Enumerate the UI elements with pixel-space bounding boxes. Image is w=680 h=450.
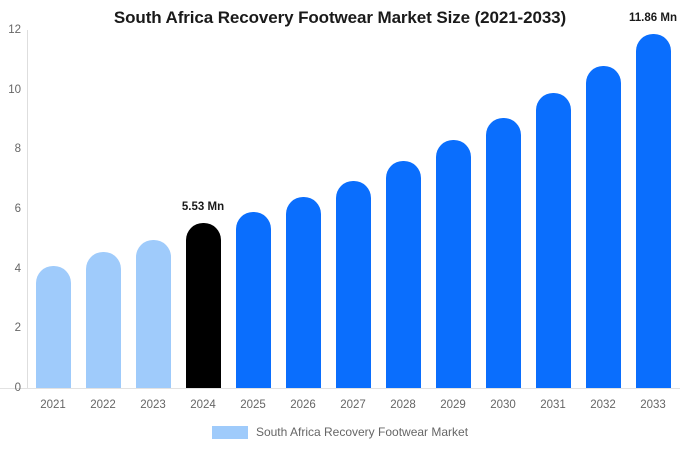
legend-swatch-icon xyxy=(212,426,248,439)
x-axis-tick-2029: 2029 xyxy=(440,399,466,411)
x-axis-tick-2032: 2032 xyxy=(590,399,616,411)
y-axis-tick-labels: 024681012 xyxy=(0,0,21,450)
x-axis-tick-2030: 2030 xyxy=(490,399,516,411)
y-axis-tick-8: 8 xyxy=(0,143,21,155)
chart-legend: South Africa Recovery Footwear Market xyxy=(0,425,680,439)
x-axis-tick-2022: 2022 xyxy=(90,399,116,411)
bar-2033[interactable] xyxy=(636,34,671,388)
bar-2026[interactable] xyxy=(286,197,321,388)
bar-2022[interactable] xyxy=(86,252,121,388)
bar-2028[interactable] xyxy=(386,161,421,388)
x-axis-tick-2033: 2033 xyxy=(640,399,666,411)
y-axis-tick-12: 12 xyxy=(0,24,21,36)
x-axis-tick-2021: 2021 xyxy=(40,399,66,411)
x-axis-tick-2024: 2024 xyxy=(190,399,216,411)
bar-2023[interactable] xyxy=(136,240,171,388)
bar-2021[interactable] xyxy=(36,266,71,388)
y-axis-tick-2: 2 xyxy=(0,322,21,334)
bar-2032[interactable] xyxy=(586,66,621,388)
bar-value-label-2024: 5.53 Mn xyxy=(182,201,224,213)
bars-layer: 20212022202320245.53 Mn20252026202720282… xyxy=(28,0,680,450)
bar-2031[interactable] xyxy=(536,93,571,388)
y-axis-tick-4: 4 xyxy=(0,263,21,275)
legend-item-label: South Africa Recovery Footwear Market xyxy=(256,425,468,439)
x-axis-tick-2028: 2028 xyxy=(390,399,416,411)
x-axis-tick-2027: 2027 xyxy=(340,399,366,411)
bar-value-label-2033: 11.86 Mn xyxy=(629,12,677,24)
bar-chart: South Africa Recovery Footwear Market Si… xyxy=(0,0,680,450)
y-axis-tick-10: 10 xyxy=(0,84,21,96)
x-axis-tick-2025: 2025 xyxy=(240,399,266,411)
bar-2029[interactable] xyxy=(436,140,471,388)
bar-2025[interactable] xyxy=(236,212,271,388)
x-axis-tick-2031: 2031 xyxy=(540,399,566,411)
bar-2024[interactable] xyxy=(186,223,221,388)
bar-2030[interactable] xyxy=(486,118,521,388)
x-axis-tick-2026: 2026 xyxy=(290,399,316,411)
bar-2027[interactable] xyxy=(336,181,371,388)
y-axis-tick-0: 0 xyxy=(0,382,21,394)
x-axis-tick-2023: 2023 xyxy=(140,399,166,411)
y-axis-tick-6: 6 xyxy=(0,203,21,215)
